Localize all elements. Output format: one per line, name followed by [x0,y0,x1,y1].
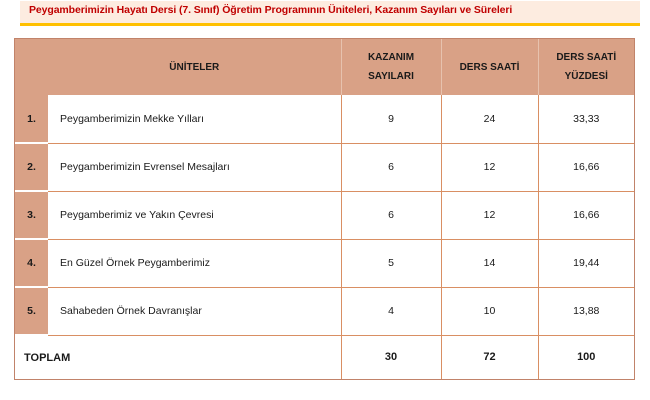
column-header-kazanim: KAZANIM SAYILARI [341,39,441,95]
page-title: Peygamberimizin Hayatı Dersi (7. Sınıf) … [29,4,512,16]
row-number: 1. [15,95,48,143]
unit-name: En Güzel Örnek Peygamberimiz [48,239,341,287]
ders-saati-value: 10 [441,287,538,335]
ders-saati-yuzdesi-value: 33,33 [538,95,634,143]
total-ders-saati: 72 [441,335,538,379]
kazanim-count: 6 [341,143,441,191]
ders-saati-yuzdesi-value: 19,44 [538,239,634,287]
row-number: 5. [15,287,48,335]
row-number: 4. [15,239,48,287]
column-header-kazanim-line2: SAYILARI [346,67,437,86]
page-title-banner: Peygamberimizin Hayatı Dersi (7. Sınıf) … [20,1,640,23]
units-table-container: ÜNİTELER KAZANIM SAYILARI DERS SAATİ DER… [14,38,635,380]
table-row: 3. Peygamberimiz ve Yakın Çevresi 6 12 1… [15,191,634,239]
kazanim-count: 9 [341,95,441,143]
table-body: 1. Peygamberimizin Mekke Yılları 9 24 33… [15,95,634,379]
ders-saati-yuzdesi-value: 13,88 [538,287,634,335]
kazanim-count: 6 [341,191,441,239]
total-ders-saati-yuzdesi: 100 [538,335,634,379]
column-header-kazanim-line1: KAZANIM [346,48,437,67]
unit-name: Peygamberimizin Mekke Yılları [48,95,341,143]
unit-name: Peygamberimizin Evrensel Mesajları [48,143,341,191]
total-kazanim: 30 [341,335,441,379]
unit-name: Peygamberimiz ve Yakın Çevresi [48,191,341,239]
column-header-row-number [15,39,48,95]
unit-name: Sahabeden Örnek Davranışlar [48,287,341,335]
ders-saati-yuzdesi-value: 16,66 [538,143,634,191]
ders-saati-value: 12 [441,143,538,191]
column-header-units: ÜNİTELER [48,39,341,95]
ders-saati-value: 24 [441,95,538,143]
page-root: Peygamberimizin Hayatı Dersi (7. Sınıf) … [0,0,650,400]
ders-saati-value: 12 [441,191,538,239]
table-header-row: ÜNİTELER KAZANIM SAYILARI DERS SAATİ DER… [15,39,634,95]
table-header: ÜNİTELER KAZANIM SAYILARI DERS SAATİ DER… [15,39,634,95]
column-header-ders-saati: DERS SAATİ [441,39,538,95]
table-row: 2. Peygamberimizin Evrensel Mesajları 6 … [15,143,634,191]
table-row: 1. Peygamberimizin Mekke Yılları 9 24 33… [15,95,634,143]
kazanim-count: 4 [341,287,441,335]
total-label: TOPLAM [15,335,341,379]
title-underline [20,23,640,26]
kazanim-count: 5 [341,239,441,287]
column-header-yuzde-line1: DERS SAATİ [543,48,631,67]
ders-saati-yuzdesi-value: 16,66 [538,191,634,239]
row-number: 3. [15,191,48,239]
ders-saati-value: 14 [441,239,538,287]
row-number: 2. [15,143,48,191]
units-table: ÜNİTELER KAZANIM SAYILARI DERS SAATİ DER… [15,39,634,379]
table-row: 4. En Güzel Örnek Peygamberimiz 5 14 19,… [15,239,634,287]
column-header-yuzde-line2: YÜZDESİ [543,67,631,86]
column-header-ders-saati-yuzdesi: DERS SAATİ YÜZDESİ [538,39,634,95]
table-row: 5. Sahabeden Örnek Davranışlar 4 10 13,8… [15,287,634,335]
table-total-row: TOPLAM 30 72 100 [15,335,634,379]
